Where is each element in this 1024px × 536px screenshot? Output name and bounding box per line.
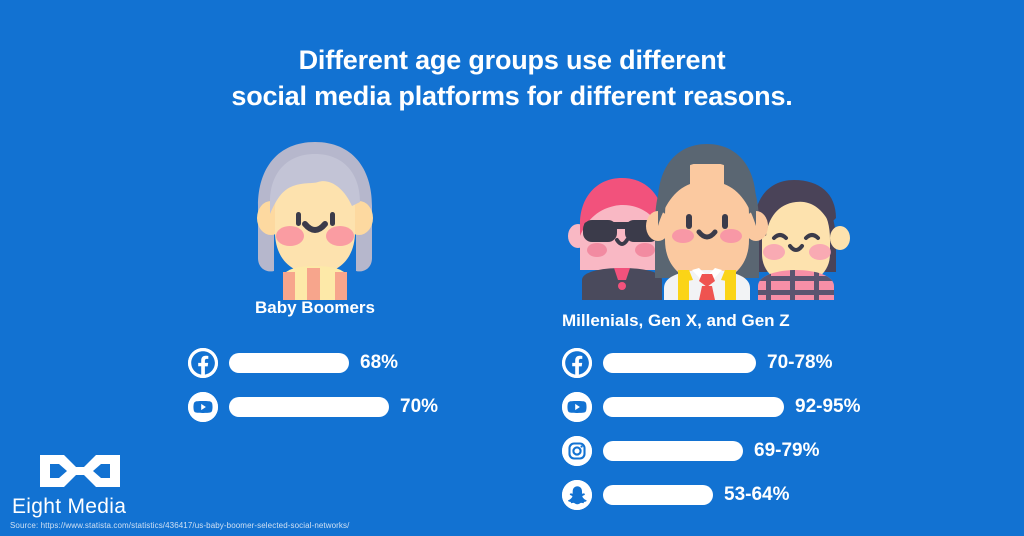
infinity-logo-icon <box>34 449 126 493</box>
title-line-1: Different age groups use different <box>0 42 1024 78</box>
bar-row-young-snapchat: 53-64% <box>562 480 790 510</box>
bar-value: 68% <box>360 352 398 374</box>
illustration-baby-boomer <box>238 140 393 300</box>
instagram-icon[interactable] <box>562 436 592 466</box>
infographic-canvas: Different age groups use different socia… <box>0 0 1024 536</box>
bar-track <box>229 397 389 417</box>
youtube-icon[interactable] <box>188 392 218 422</box>
bar-track <box>229 353 349 373</box>
character-pink-hair <box>568 178 664 300</box>
snapchat-icon[interactable] <box>562 480 592 510</box>
character-plaid-shirt <box>752 180 850 300</box>
bar-row-young-instagram: 69-79% <box>562 436 820 466</box>
facebook-icon[interactable] <box>188 348 218 378</box>
title-line-2: social media platforms for different rea… <box>0 78 1024 114</box>
illustration-young-generations <box>552 140 862 300</box>
bar-row-young-youtube: 92-95% <box>562 392 861 422</box>
bar-track <box>603 353 756 373</box>
bar-value: 70% <box>400 396 438 418</box>
bar-value: 69-79% <box>754 440 820 462</box>
bar-track <box>603 441 743 461</box>
bar-track <box>603 397 784 417</box>
source-citation: Source: https://www.statista.com/statist… <box>10 521 349 530</box>
page-title: Different age groups use different socia… <box>0 42 1024 114</box>
group-label-baby-boomers: Baby Boomers <box>180 298 450 318</box>
group-label-young-generations: Millenials, Gen X, and Gen Z <box>562 311 942 331</box>
facebook-icon[interactable] <box>562 348 592 378</box>
bar-row-young-facebook: 70-78% <box>562 348 833 378</box>
brand-logo: Eight Media <box>12 449 172 519</box>
brand-name: Eight Media <box>12 495 172 519</box>
bar-value: 92-95% <box>795 396 861 418</box>
bar-value: 53-64% <box>724 484 790 506</box>
youtube-icon[interactable] <box>562 392 592 422</box>
bar-value: 70-78% <box>767 352 833 374</box>
bar-row-boomers-youtube: 70% <box>188 392 438 422</box>
character-center <box>646 144 768 300</box>
bar-track <box>603 485 713 505</box>
bar-row-boomers-facebook: 68% <box>188 348 398 378</box>
